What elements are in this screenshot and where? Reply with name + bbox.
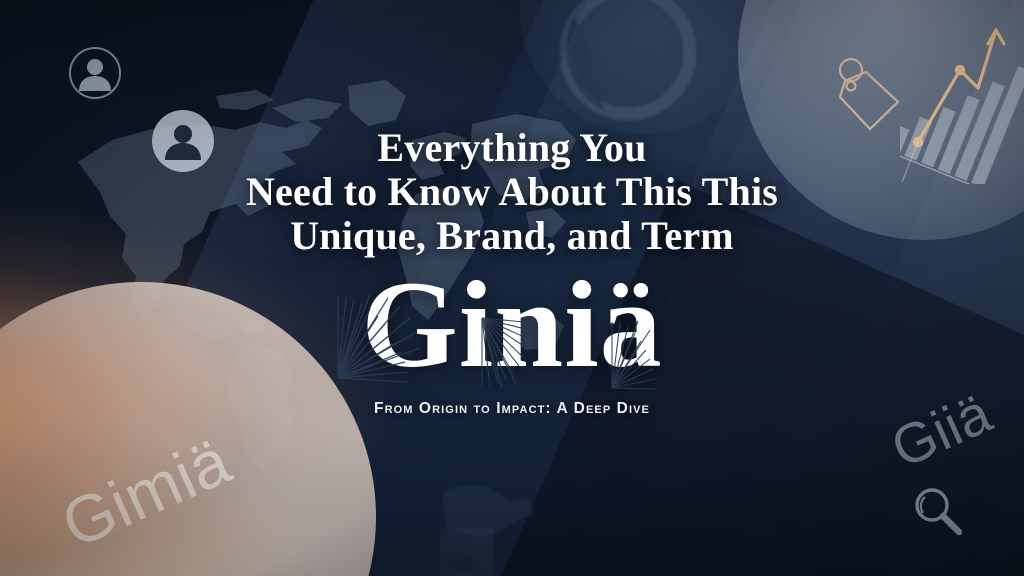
brand-wordmark: Giniä — [0, 264, 1024, 386]
headline-line-1: Everything You — [0, 126, 1024, 170]
poster-content: Everything You Need to Know About This T… — [0, 126, 1024, 418]
poster-canvas: Giiä Gimiä Everything You Need to Know A… — [0, 0, 1024, 576]
brand-text: Giniä — [361, 264, 662, 386]
headline: Everything You Need to Know About This T… — [0, 126, 1024, 258]
search-icon — [908, 482, 968, 542]
headline-line-3: Unique, Brand, and Term — [0, 214, 1024, 258]
headline-line-2: Need to Know About This This — [0, 170, 1024, 214]
tagline: From Origin to Impact: A Deep Dive — [0, 400, 1024, 418]
